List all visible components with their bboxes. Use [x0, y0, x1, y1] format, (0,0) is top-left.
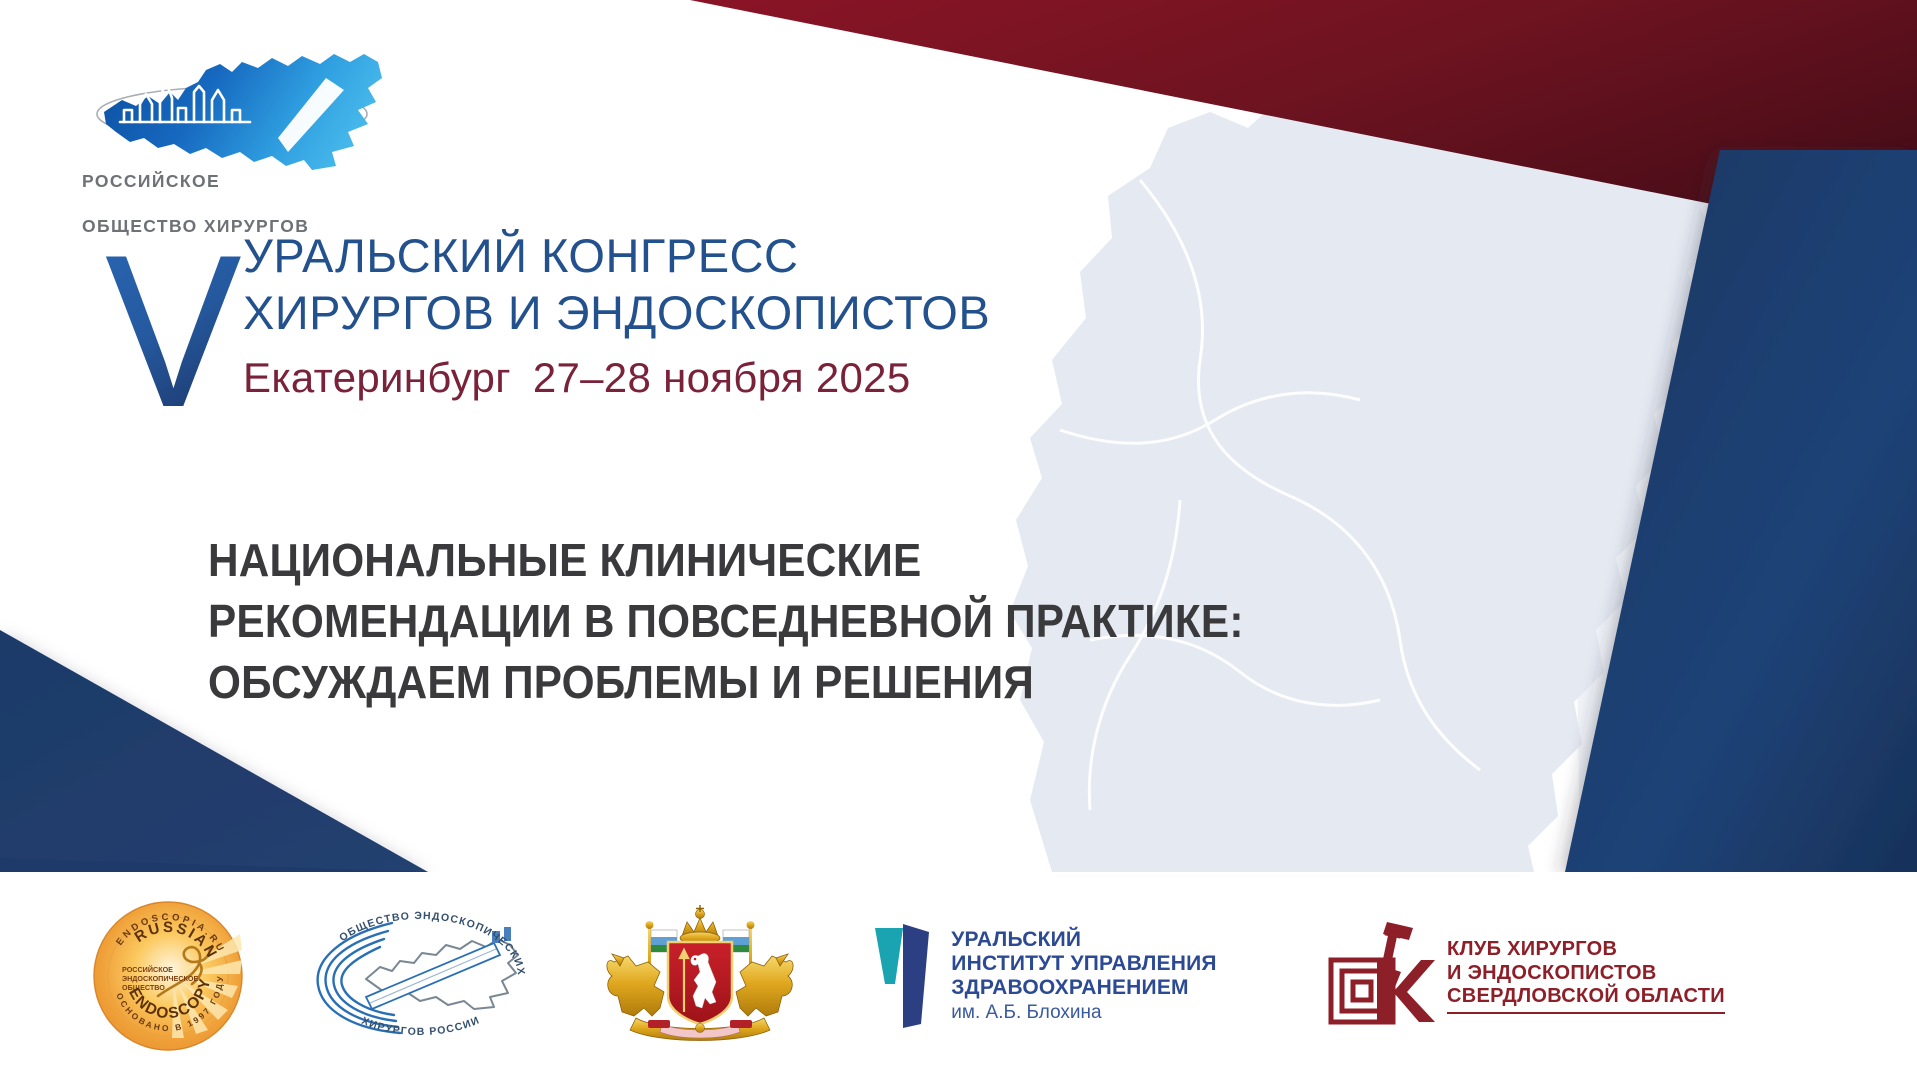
headline-line3: ОБСУЖДАЕМ ПРОБЛЕМЫ И РЕШЕНИЯ	[208, 652, 1358, 713]
ural-institute-line2: ИНСТИТУТ УПРАВЛЕНИЯ	[951, 952, 1216, 976]
emblem-arc-top: ОБЩЕСТВО ЭНДОСКОПИЧЕСКИХ	[337, 910, 527, 977]
partner-logo-surgeons-club: КЛУБ ХИРУРГОВ И ЭНДОСКОПИСТОВ СВЕРДЛОВСК…	[1315, 901, 1735, 1051]
headline-line2: РЕКОМЕНДАЦИИ В ПОВСЕДНЕВНОЙ ПРАКТИКЕ:	[208, 591, 1358, 652]
coat-of-arms-icon	[590, 900, 810, 1052]
seal-center-line3: ОБЩЕСТВО	[122, 983, 165, 992]
circular-seal-icon: РОССИЙСКОЕ ЭНДОСКОПИЧЕСКОЕ ОБЩЕСТВО ENDO…	[92, 900, 244, 1052]
event-venue-date: Екатеринбург27–28 ноября 2025	[243, 354, 1103, 402]
seal-center-line2: ЭНДОСКОПИЧЕСКОЕ	[122, 974, 199, 983]
society-logo: РОССИЙСКОЕ ОБЩЕСТВО ХИРУРГОВ	[82, 48, 382, 208]
partner-logo-russian-endoscopy-society: РОССИЙСКОЕ ЭНДОСКОПИЧЕСКОЕ ОБЩЕСТВО ENDO…	[60, 901, 275, 1051]
event-title-line2: ХИРУРГОВ И ЭНДОСКОПИСТОВ	[243, 284, 1103, 341]
ural-institute-v-mark-icon	[873, 920, 937, 1032]
event-dates: 27–28 ноября 2025	[533, 354, 911, 401]
conference-theme-headline: НАЦИОНАЛЬНЫЕ КЛИНИЧЕСКИЕ РЕКОМЕНДАЦИИ В …	[208, 530, 1458, 714]
svg-text:V: V	[105, 247, 242, 417]
seal-center-line1: РОССИЙСКОЕ	[122, 965, 173, 974]
surgeons-club-line2: И ЭНДОСКОПИСТОВ	[1447, 962, 1725, 985]
ural-institute-line3: ЗДРАВООХРАНЕНИЕМ	[951, 976, 1216, 1000]
ural-institute-label: УРАЛЬСКИЙ ИНСТИТУТ УПРАВЛЕНИЯ ЗДРАВООХРА…	[951, 928, 1216, 1024]
partner-logo-sverdlovsk-coat-of-arms	[575, 901, 825, 1051]
society-logo-line1: РОССИЙСКОЕ	[82, 170, 309, 192]
surgeons-club-line1: КЛУБ ХИРУРГОВ	[1447, 938, 1725, 961]
poster-stage: РОССИЙСКОЕ ОБЩЕСТВО ХИРУРГОВ V УРАЛЬСКИЙ…	[0, 0, 1917, 872]
headline-line1: НАЦИОНАЛЬНЫЕ КЛИНИЧЕСКИЕ	[208, 530, 1358, 591]
partner-logo-ural-institute: УРАЛЬСКИЙ ИНСТИТУТ УПРАВЛЕНИЯ ЗДРАВООХРА…	[855, 901, 1235, 1051]
griffin-left	[607, 954, 664, 1016]
ural-institute-line4: им. А.Б. Блохина	[951, 1002, 1216, 1023]
roman-numeral-five: V	[105, 247, 255, 417]
surgeons-club-underline	[1447, 1012, 1725, 1014]
ural-institute-line1: УРАЛЬСКИЙ	[951, 928, 1216, 952]
partner-logo-endoscopic-surgeons-society: ОБЩЕСТВО ЭНДОСКОПИЧЕСКИХ ХИРУРГОВ РОССИИ	[295, 901, 545, 1051]
surgeons-club-line3: СВЕРДЛОВСКОЙ ОБЛАСТИ	[1447, 985, 1725, 1008]
event-title-lines: УРАЛЬСКИЙ КОНГРЕСС ХИРУРГОВ И ЭНДОСКОПИС…	[243, 227, 1103, 402]
griffin-right	[736, 954, 793, 1016]
event-city: Екатеринбург	[243, 354, 511, 401]
surgeons-club-label: КЛУБ ХИРУРГОВ И ЭНДОСКОПИСТОВ СВЕРДЛОВСК…	[1447, 938, 1725, 1013]
crown-icon	[680, 905, 720, 944]
conference-poster: РОССИЙСКОЕ ОБЩЕСТВО ХИРУРГОВ V УРАЛЬСКИЙ…	[0, 0, 1917, 1080]
partner-logo-bar: РОССИЙСКОЕ ЭНДОСКОПИЧЕСКОЕ ОБЩЕСТВО ENDO…	[0, 872, 1917, 1080]
event-title-line1: УРАЛЬСКИЙ КОНГРЕСС	[243, 227, 1103, 284]
club-k-monogram-icon	[1325, 914, 1435, 1039]
oval-map-emblem-icon: ОБЩЕСТВО ЭНДОСКОПИЧЕСКИХ ХИРУРГОВ РОССИИ	[296, 901, 544, 1051]
